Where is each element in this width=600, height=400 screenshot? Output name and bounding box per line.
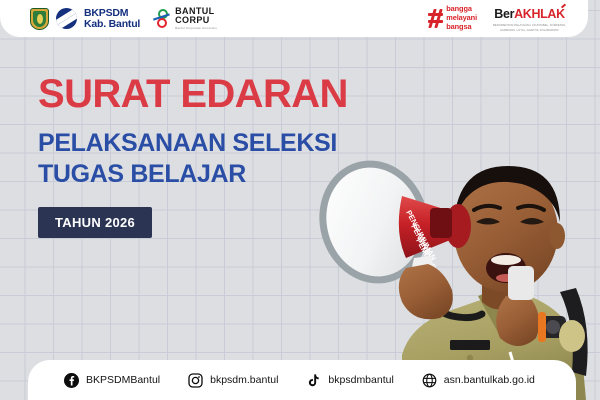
watch-face [546, 320, 560, 334]
neck [482, 274, 518, 310]
header-bar: BKPSDM Kab. Bantul BANTUL CORPU Bantul C… [0, 0, 588, 37]
facebook-icon [64, 373, 79, 388]
left-eyebrow [474, 206, 500, 210]
social-facebook-label: BKPSDMBantul [86, 374, 160, 386]
watch-strap [538, 312, 546, 342]
globe-icon [422, 373, 437, 388]
corpu-mark-icon [153, 8, 171, 30]
left-hand [399, 264, 453, 319]
open-mouth [486, 253, 526, 283]
shoulder-patch [559, 320, 585, 352]
page-subtitle-line-2: TUGAS BELAJAR [38, 159, 348, 190]
berakhlak-tagline-2: HARMONIS, LOYAL, ADAPTIF, KOLABORATIF [493, 29, 566, 33]
corpu-wordmark: BANTUL CORPU Bantul Corporate University [175, 7, 217, 30]
head [454, 172, 558, 292]
year-badge: TAHUN 2026 [38, 207, 152, 238]
social-tiktok[interactable]: bkpsdmbantul [306, 373, 393, 388]
social-instagram-label: bkpsdm.bantul [210, 374, 278, 386]
social-website[interactable]: asn.bantulkab.go.id [422, 373, 535, 388]
page-title: SURAT EDARAN [38, 74, 348, 114]
tongue [496, 274, 516, 282]
bantul-corpu-logo: BANTUL CORPU Bantul Corporate University [153, 7, 217, 30]
berakhlak-accent: AKHLAK [514, 7, 565, 21]
bangga-melayani-bangsa-logo: bangga melayani bangsa [428, 5, 477, 31]
name-tag [450, 340, 490, 350]
bantul-regency-emblem-icon [30, 8, 49, 30]
berakhlak-wordmark: BerAKHLAK [494, 7, 564, 21]
berakhlak-prefix: Ber [494, 7, 514, 21]
tiktok-icon [306, 373, 321, 388]
social-website-label: asn.bantulkab.go.id [444, 374, 535, 386]
page-subtitle: PELAKSANAAN SELEKSI TUGAS BELAJAR [38, 128, 348, 189]
megaphone-label-line-1: PENGUMUMAN [404, 209, 438, 262]
social-instagram[interactable]: bkpsdm.bantul [188, 373, 278, 388]
headline-block: SURAT EDARAN PELAKSANAAN SELEKSI TUGAS B… [38, 74, 348, 238]
bangga-wordmark: bangga melayani bangsa [446, 5, 477, 31]
hair [454, 166, 560, 222]
left-eye [476, 218, 500, 225]
bkpsdm-wordmark: BKPSDM Kab. Bantul [84, 8, 140, 29]
ear [549, 223, 565, 249]
bkpsdm-line-2: Kab. Bantul [84, 19, 140, 30]
social-facebook[interactable]: BKPSDMBantul [64, 373, 160, 388]
megaphone-label-line-2: PENTING [409, 223, 433, 257]
header-left-logos: BKPSDM Kab. Bantul BANTUL CORPU Bantul C… [30, 7, 217, 30]
bkpsdm-mark-icon [56, 8, 77, 29]
corpu-tagline: Bantul Corporate University [175, 27, 217, 30]
poster-canvas: BKPSDM Kab. Bantul BANTUL CORPU Bantul C… [0, 0, 600, 400]
megaphone-handle [411, 256, 434, 297]
berakhlak-tagline-1: BERORIENTASI PELAYANAN, AKUNTABEL, KOMPE… [493, 24, 566, 28]
hashtag-icon [428, 9, 443, 28]
megaphone-body [399, 196, 468, 258]
instagram-icon [188, 373, 203, 388]
bangga-line-3: bangsa [446, 23, 477, 32]
megaphone-rear-cap [445, 204, 471, 248]
bkpsdm-line-1: BKPSDM [84, 8, 140, 19]
upper-teeth [491, 255, 521, 265]
wrist-watch [540, 316, 566, 338]
handheld-mic [508, 266, 534, 300]
right-eyebrow [518, 206, 544, 210]
social-tiktok-label: bkpsdmbantul [328, 374, 393, 386]
header-right-logos: bangga melayani bangsa BerAKHLAK BERORIE… [428, 5, 566, 33]
page-subtitle-line-1: PELAKSANAAN SELEKSI [38, 128, 348, 159]
uniform-collar [478, 290, 522, 336]
corpu-line-2: CORPU [175, 16, 217, 25]
right-hand [496, 296, 539, 346]
megaphone-speaker-grill [430, 208, 452, 238]
berakhlak-logo: BerAKHLAK BERORIENTASI PELAYANAN, AKUNTA… [493, 5, 566, 33]
megaphone-label-line-3: PEMDA BANTUL [414, 237, 450, 294]
footer-bar: BKPSDMBantul bkpsdm.bantul bkpsdmbantul [28, 360, 576, 400]
right-eye [520, 218, 544, 225]
megaphone-cord [428, 298, 482, 318]
